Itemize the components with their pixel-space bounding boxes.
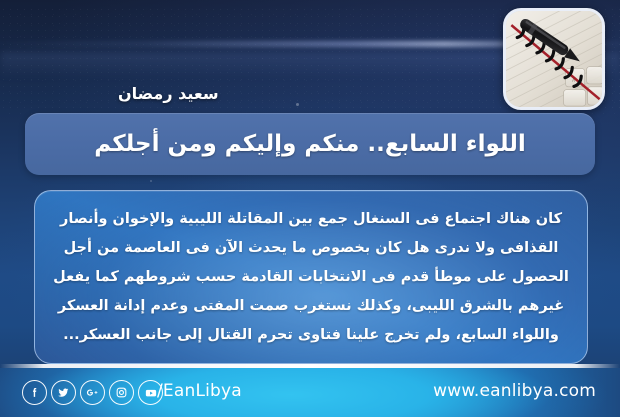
excerpt-text: كان هناك اجتماع فى السنغال جمع بين المقا…	[35, 205, 587, 350]
facebook-icon[interactable]	[22, 380, 47, 405]
instagram-icon[interactable]	[109, 380, 134, 405]
avatar: A	[503, 8, 605, 110]
website-url[interactable]: www.eanlibya.com	[433, 381, 596, 401]
twitter-icon[interactable]	[51, 380, 76, 405]
social-links	[22, 380, 163, 405]
headline-bar: اللواء السابع.. منكم وإليكم ومن أجلكم	[25, 113, 595, 175]
excerpt-panel: كان هناك اجتماع فى السنغال جمع بين المقا…	[34, 190, 588, 364]
google-plus-icon[interactable]	[80, 380, 105, 405]
page-title: اللواء السابع.. منكم وإليكم ومن أجلكم	[80, 131, 540, 157]
author-byline: سعيد رمضان	[118, 84, 219, 103]
bokeh-speck	[296, 103, 299, 106]
bokeh-speck	[150, 180, 152, 182]
social-handle[interactable]: /EanLibya	[157, 381, 242, 401]
pen-notebook-photo-icon: A	[506, 11, 602, 107]
opinion-card: أقلام وآراء سعيد رمضان	[0, 0, 620, 417]
footer-bar: /EanLibya www.eanlibya.com	[0, 368, 620, 417]
